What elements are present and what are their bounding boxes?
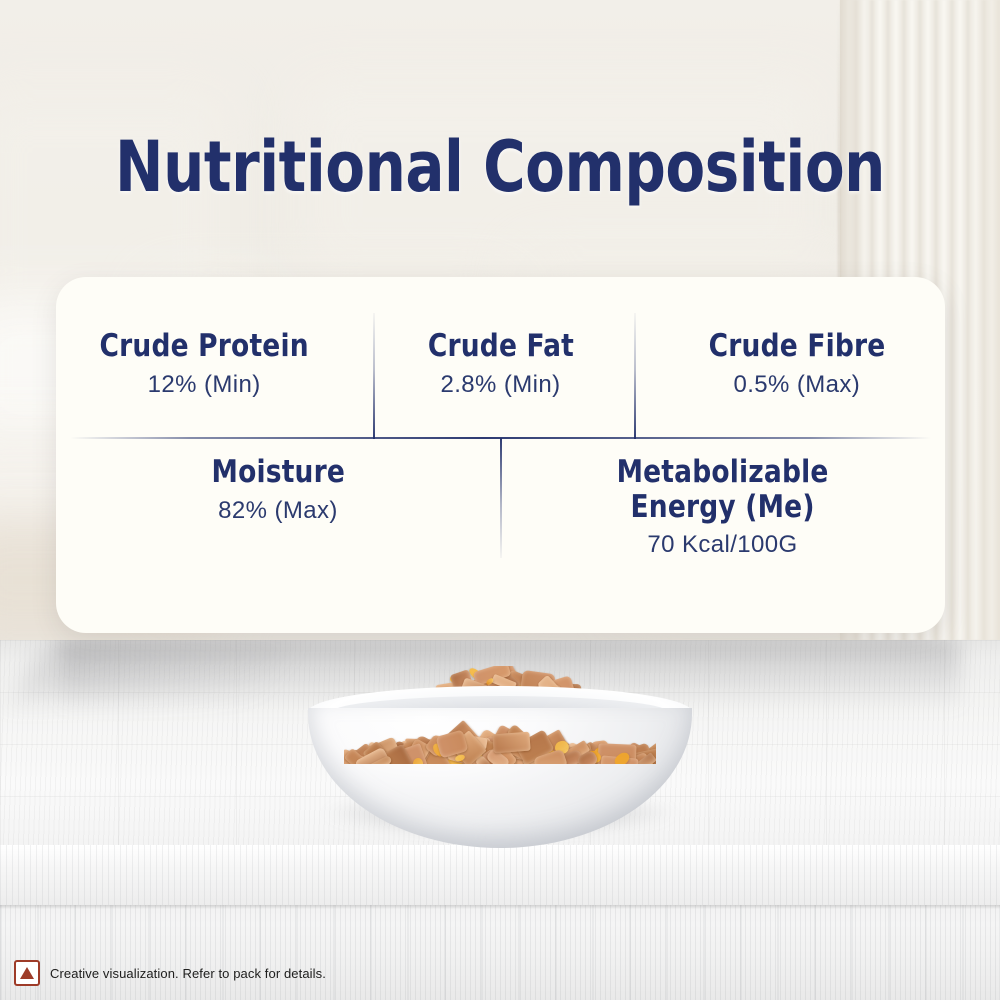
nutrition-label: Crude Fibre bbox=[708, 329, 885, 364]
nutrition-cell-moisture: Moisture 82% (Max) bbox=[56, 455, 500, 595]
divider-vertical bbox=[373, 313, 375, 439]
nutrition-value: 0.5% (Max) bbox=[733, 371, 860, 399]
nutrition-cell-crude-fibre: Crude Fibre 0.5% (Max) bbox=[649, 329, 945, 437]
nutrition-label: Crude Fat bbox=[427, 329, 573, 364]
nutrition-cell-metabolizable-energy: Metabolizable Energy (Me) 70 Kcal/100G bbox=[500, 455, 945, 595]
triangle-icon bbox=[20, 967, 34, 979]
non-vegetarian-mark-icon bbox=[14, 960, 40, 986]
divider-vertical bbox=[634, 313, 636, 439]
nutrition-cell-crude-fat: Crude Fat 2.8% (Min) bbox=[352, 329, 648, 437]
nutrition-card: Crude Protein 12% (Min) Crude Fat 2.8% (… bbox=[56, 277, 945, 633]
nutrition-label: Moisture bbox=[211, 455, 345, 490]
nutrition-label: Crude Protein bbox=[100, 329, 309, 364]
nutrition-value: 12% (Min) bbox=[148, 371, 261, 399]
nutrition-cell-crude-protein: Crude Protein 12% (Min) bbox=[56, 329, 352, 437]
card-drop-shadow bbox=[14, 640, 296, 700]
disclaimer-text: Creative visualization. Refer to pack fo… bbox=[50, 966, 326, 981]
nutrition-label-line-1: Metabolizable bbox=[617, 454, 829, 490]
nutrition-row-bottom: Moisture 82% (Max) Metabolizable Energy … bbox=[56, 455, 945, 595]
nutrition-label-line-2: Energy (Me) bbox=[630, 489, 814, 525]
footer-disclaimer: Creative visualization. Refer to pack fo… bbox=[14, 960, 326, 986]
page-title: Nutritional Composition bbox=[40, 126, 960, 208]
nutrition-value: 82% (Max) bbox=[218, 497, 338, 525]
meat-chunk bbox=[493, 731, 531, 752]
promo-creative: Nutritional Composition Crude Protein 12… bbox=[0, 0, 1000, 1000]
food-bowl-scene bbox=[300, 660, 700, 860]
nutrition-value: 2.8% (Min) bbox=[440, 371, 560, 399]
food-mound-front bbox=[344, 706, 656, 764]
nutrition-value: 70 Kcal/100G bbox=[647, 531, 797, 559]
nutrition-row-top: Crude Protein 12% (Min) Crude Fat 2.8% (… bbox=[56, 329, 945, 437]
nutrition-label: Metabolizable Energy (Me) bbox=[617, 455, 829, 524]
